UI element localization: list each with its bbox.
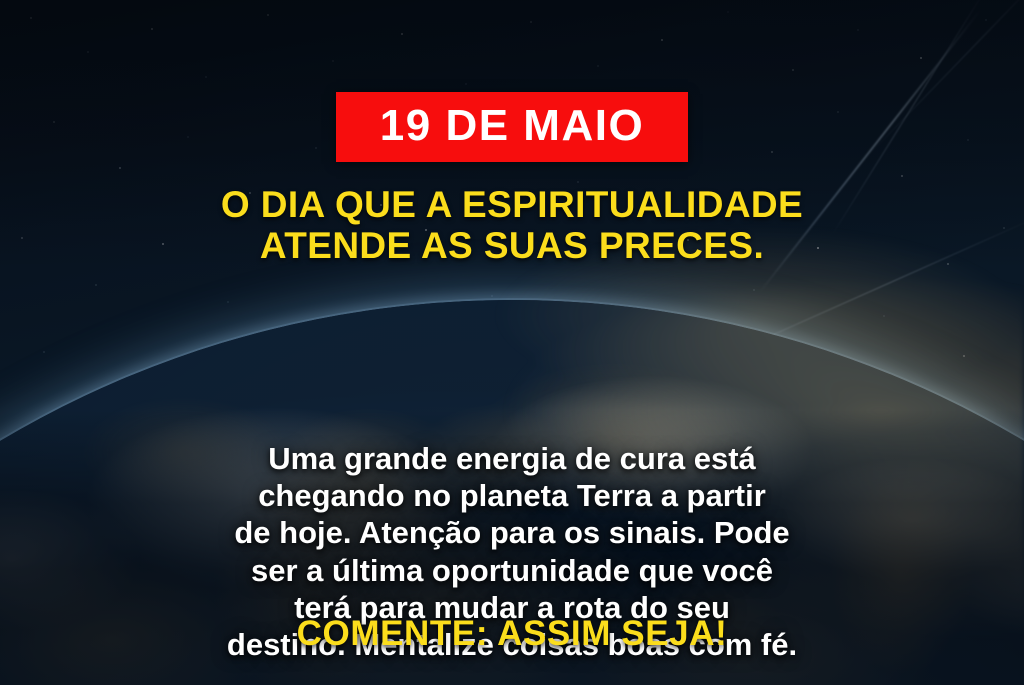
call-to-action: COMENTE: ASSIM SEJA! xyxy=(0,614,1024,654)
headline-line-2: ATENDE AS SUAS PRECES. xyxy=(221,225,803,266)
poster-canvas: 19 DE MAIO O DIA QUE A ESPIRITUALIDADE A… xyxy=(0,0,1024,685)
body-line-4: ser a última oportunidade que você xyxy=(0,552,1024,589)
date-banner: 19 DE MAIO xyxy=(336,92,688,162)
body-line-3: de hoje. Atenção para os sinais. Pode xyxy=(0,514,1024,551)
headline: O DIA QUE A ESPIRITUALIDADE ATENDE AS SU… xyxy=(221,184,803,267)
headline-line-1: O DIA QUE A ESPIRITUALIDADE xyxy=(221,184,803,225)
body-line-2: chegando no planeta Terra a partir xyxy=(0,477,1024,514)
body-line-1: Uma grande energia de cura está xyxy=(0,440,1024,477)
poster-content: 19 DE MAIO O DIA QUE A ESPIRITUALIDADE A… xyxy=(0,0,1024,685)
